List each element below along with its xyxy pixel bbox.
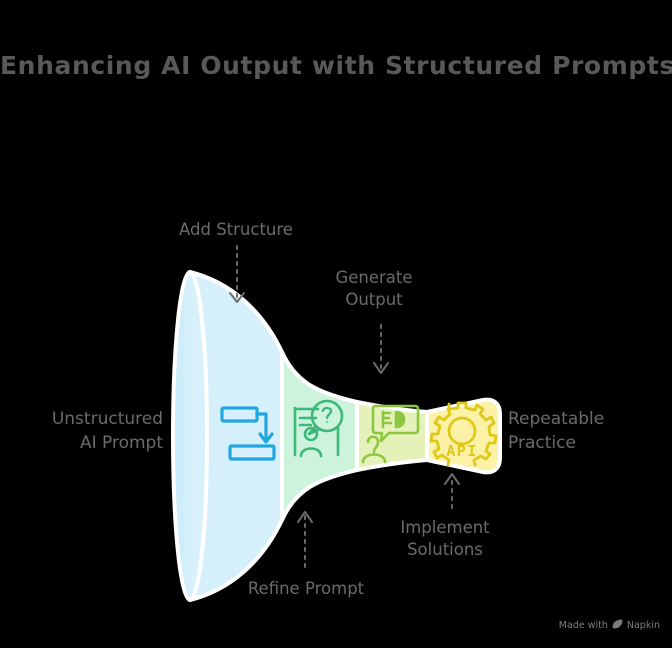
- funnel-mouth-rim: [173, 272, 207, 600]
- napkin-leaf-icon: [612, 619, 623, 633]
- funnel-exit-label: Repeatable Practice: [508, 408, 668, 456]
- funnel-segment-refine-prompt[interactable]: [282, 352, 357, 520]
- diagram-canvas: Enhancing AI Output with Structured Prom…: [0, 0, 672, 648]
- watermark-brand: Napkin: [627, 620, 660, 631]
- gear-api-label: API: [446, 442, 478, 460]
- connector-refine-prompt: [298, 512, 312, 567]
- connector-generate-output: [374, 325, 388, 373]
- callout-generate-output: Generate Output: [266, 267, 482, 312]
- connector-implement-solutions: [445, 474, 459, 508]
- watermark: Made with Napkin: [559, 619, 660, 633]
- callout-add-structure: Add Structure: [88, 219, 384, 241]
- callout-refine-prompt: Refine Prompt: [158, 578, 454, 600]
- funnel-graphic: API: [0, 0, 672, 648]
- funnel-segment-generate-output[interactable]: [357, 402, 427, 470]
- callout-implement-solutions: Implement Solutions: [340, 517, 550, 562]
- watermark-prefix: Made with: [559, 620, 608, 631]
- funnel-entry-label: Unstructured AI Prompt: [8, 408, 163, 456]
